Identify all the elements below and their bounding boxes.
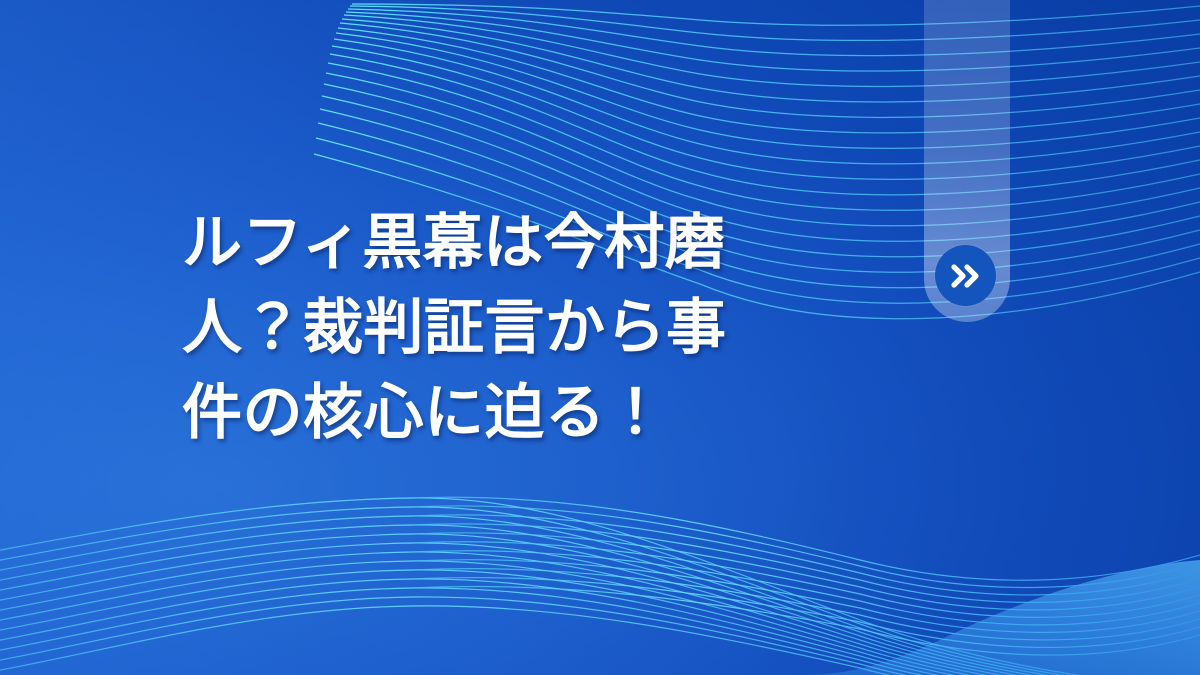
double-chevron-right-button[interactable] bbox=[935, 245, 996, 306]
page-title: ルフィ黒幕は今村磨 人？裁判証言から事 件の核心に迫る！ bbox=[182, 200, 862, 456]
double-chevron-right-icon bbox=[949, 262, 983, 290]
thumbnail-card: ルフィ黒幕は今村磨 人？裁判証言から事 件の核心に迫る！ bbox=[0, 0, 1200, 675]
